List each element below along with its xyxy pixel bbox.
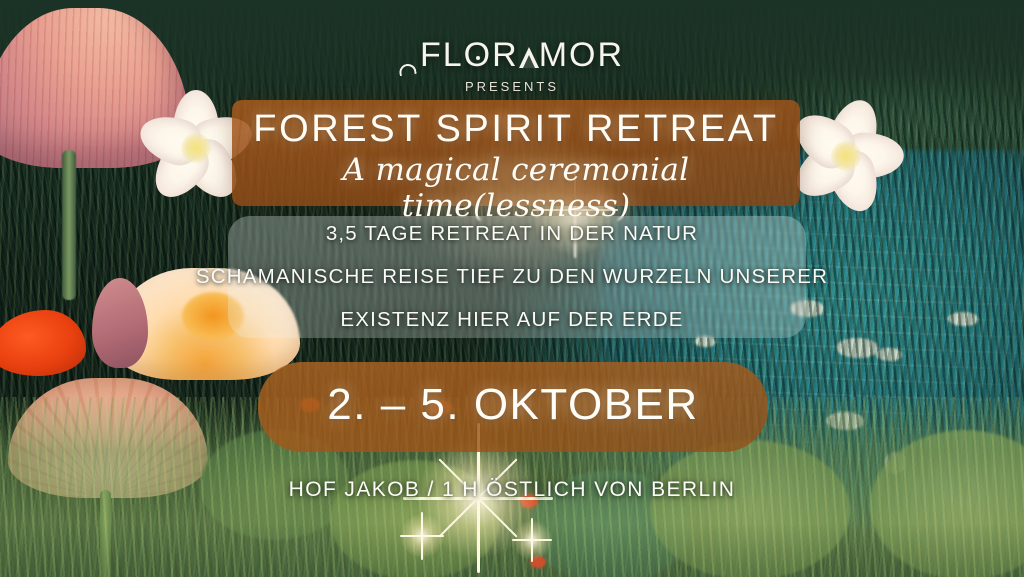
description-line: EXISTENZ HIER AUF DER ERDE (0, 308, 1024, 332)
event-location: HOF JAKOB / 1 H ÖSTLICH VON BERLIN (0, 478, 1024, 502)
brand-logo: FLORMOR (0, 36, 1024, 75)
presents-label: PRESENTS (0, 79, 1024, 94)
description-line: 3,5 TAGE RETREAT IN DER NATUR (0, 222, 1024, 246)
logo-letter: M (539, 36, 569, 75)
logo-letter: R (597, 36, 624, 75)
page-subtitle: A magical ceremonial time(lessness) (232, 152, 800, 224)
poster-canvas: FLORMOR PRESENTS FOREST SPIRIT RETREAT A… (0, 0, 1024, 577)
logo-letter: R (492, 36, 519, 75)
brand-logo-text: FLORMOR (400, 36, 624, 75)
logo-letter: O (569, 36, 597, 75)
logo-letter: F (420, 36, 443, 75)
logo-triangle-a-icon (519, 47, 539, 68)
logo-letter: L (443, 36, 464, 75)
title-banner: FOREST SPIRIT RETREAT A magical ceremoni… (232, 100, 800, 206)
logo-letter-o-dotted: O (464, 36, 492, 75)
event-date: 2. – 5. OKTOBER (258, 380, 768, 430)
page-title: FOREST SPIRIT RETREAT (232, 108, 800, 151)
description-line: SCHAMANISCHE REISE TIEF ZU DEN WURZELN U… (0, 265, 1024, 289)
poster-content: FLORMOR PRESENTS FOREST SPIRIT RETREAT A… (0, 0, 1024, 577)
